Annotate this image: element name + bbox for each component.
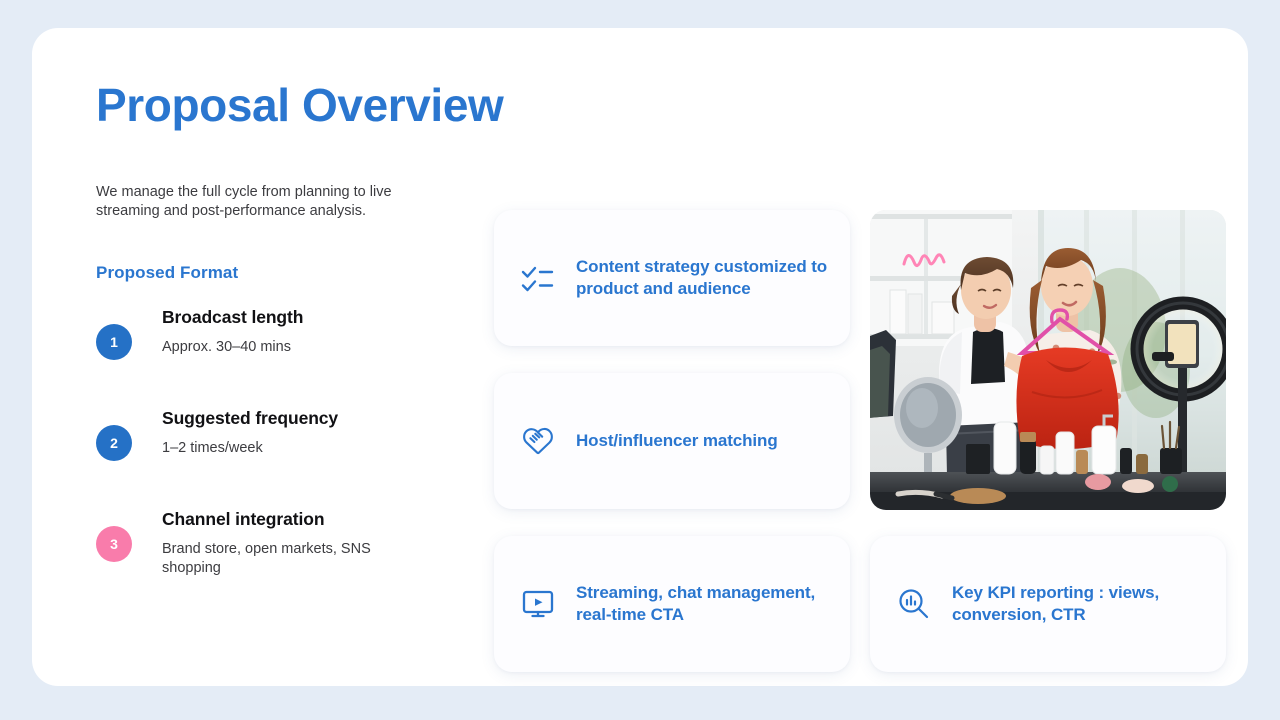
feature-card-host-matching[interactable]: Host/influencer matching [494,373,850,509]
steps-list: 1 Broadcast length Approx. 30–40 mins 2 … [96,307,416,578]
feature-card-label: Host/influencer matching [576,430,778,453]
list-item: 2 Suggested frequency 1–2 times/week [96,408,416,470]
feature-card-label: Key KPI reporting : views, conversion, C… [952,582,1204,627]
feature-card-content-strategy[interactable]: Content strategy customized to product a… [494,210,850,346]
step-desc-2: 1–2 times/week [162,439,416,458]
slide-canvas: Proposal Overview We manage the full cyc… [32,28,1248,686]
step-desc-3: Brand store, open markets, SNS shopping [162,540,416,578]
analytics-search-icon [896,586,932,622]
list-item: 1 Broadcast length Approx. 30–40 mins [96,307,416,369]
feature-card-label: Streaming, chat management, real-time CT… [576,582,828,627]
handshake-icon [520,423,556,459]
intro-paragraph: We manage the full cycle from planning t… [96,183,396,221]
feature-card-kpi-reporting[interactable]: Key KPI reporting : views, conversion, C… [870,536,1226,672]
step-badge-3: 3 [96,526,132,562]
page-title: Proposal Overview [96,78,503,132]
step-badge-1: 1 [96,324,132,360]
step-desc-1: Approx. 30–40 mins [162,338,416,357]
list-item: 3 Channel integration Brand store, open … [96,509,416,578]
step-badge-2: 2 [96,425,132,461]
feature-card-label: Content strategy customized to product a… [576,256,828,301]
photo-illustration [870,210,1226,510]
step-title-3: Channel integration [162,509,416,530]
section-label-proposed-format: Proposed Format [96,263,416,283]
step-title-2: Suggested frequency [162,408,416,429]
step-title-1: Broadcast length [162,307,416,328]
checklist-icon [520,260,556,296]
monitor-play-icon [520,586,556,622]
livestream-photo [870,210,1226,510]
feature-card-streaming-cta[interactable]: Streaming, chat management, real-time CT… [494,536,850,672]
left-column: We manage the full cycle from planning t… [96,183,416,578]
